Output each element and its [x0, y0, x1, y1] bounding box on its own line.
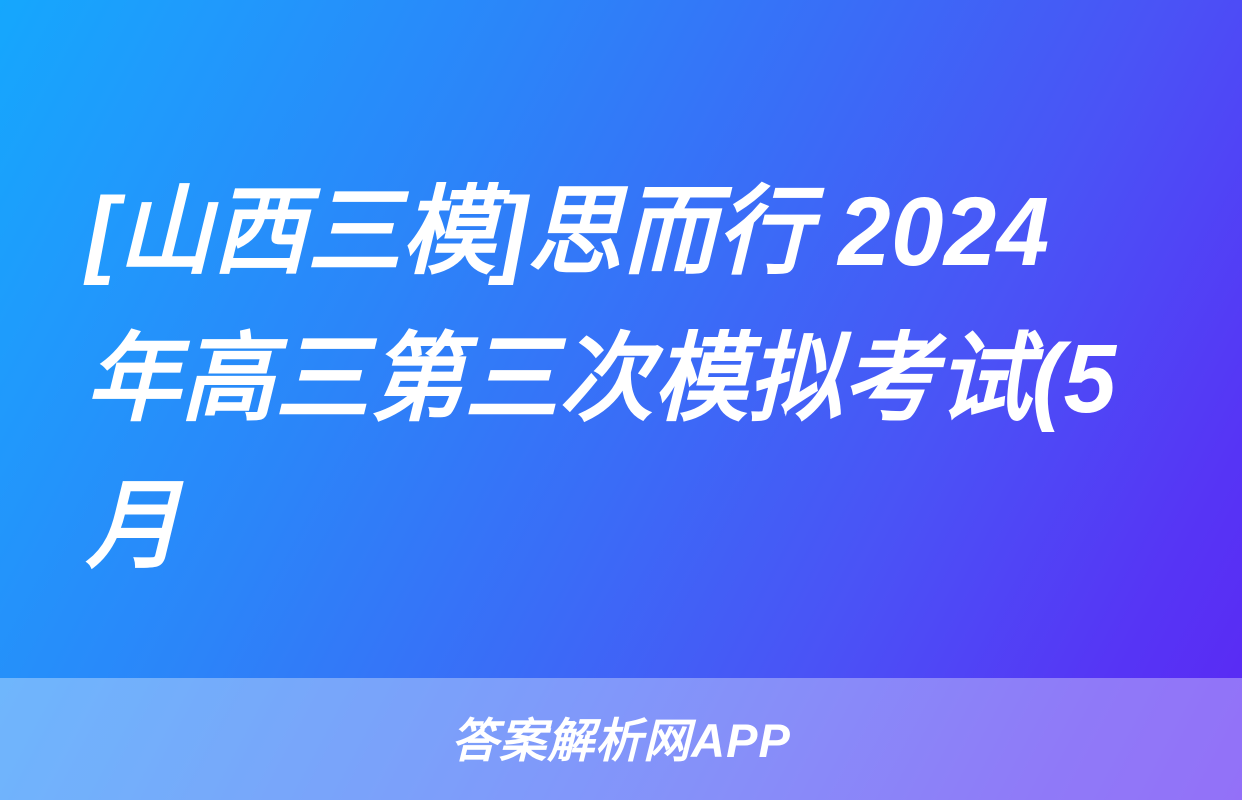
exam-title-card: [山西三模]思而行 2024 年高三第三次模拟考试(5 月 答案解析网APP: [0, 0, 1242, 800]
app-watermark-label: 答案解析网APP: [451, 717, 791, 764]
title-line-3: 月: [86, 452, 1143, 599]
title-line-2: 年高三第三次模拟考试(5: [86, 305, 1143, 452]
page-title: [山西三模]思而行 2024 年高三第三次模拟考试(5 月: [86, 158, 1176, 599]
footer-watermark-band: 答案解析网APP: [0, 678, 1242, 800]
title-line-1: [山西三模]思而行 2024: [86, 158, 1143, 305]
